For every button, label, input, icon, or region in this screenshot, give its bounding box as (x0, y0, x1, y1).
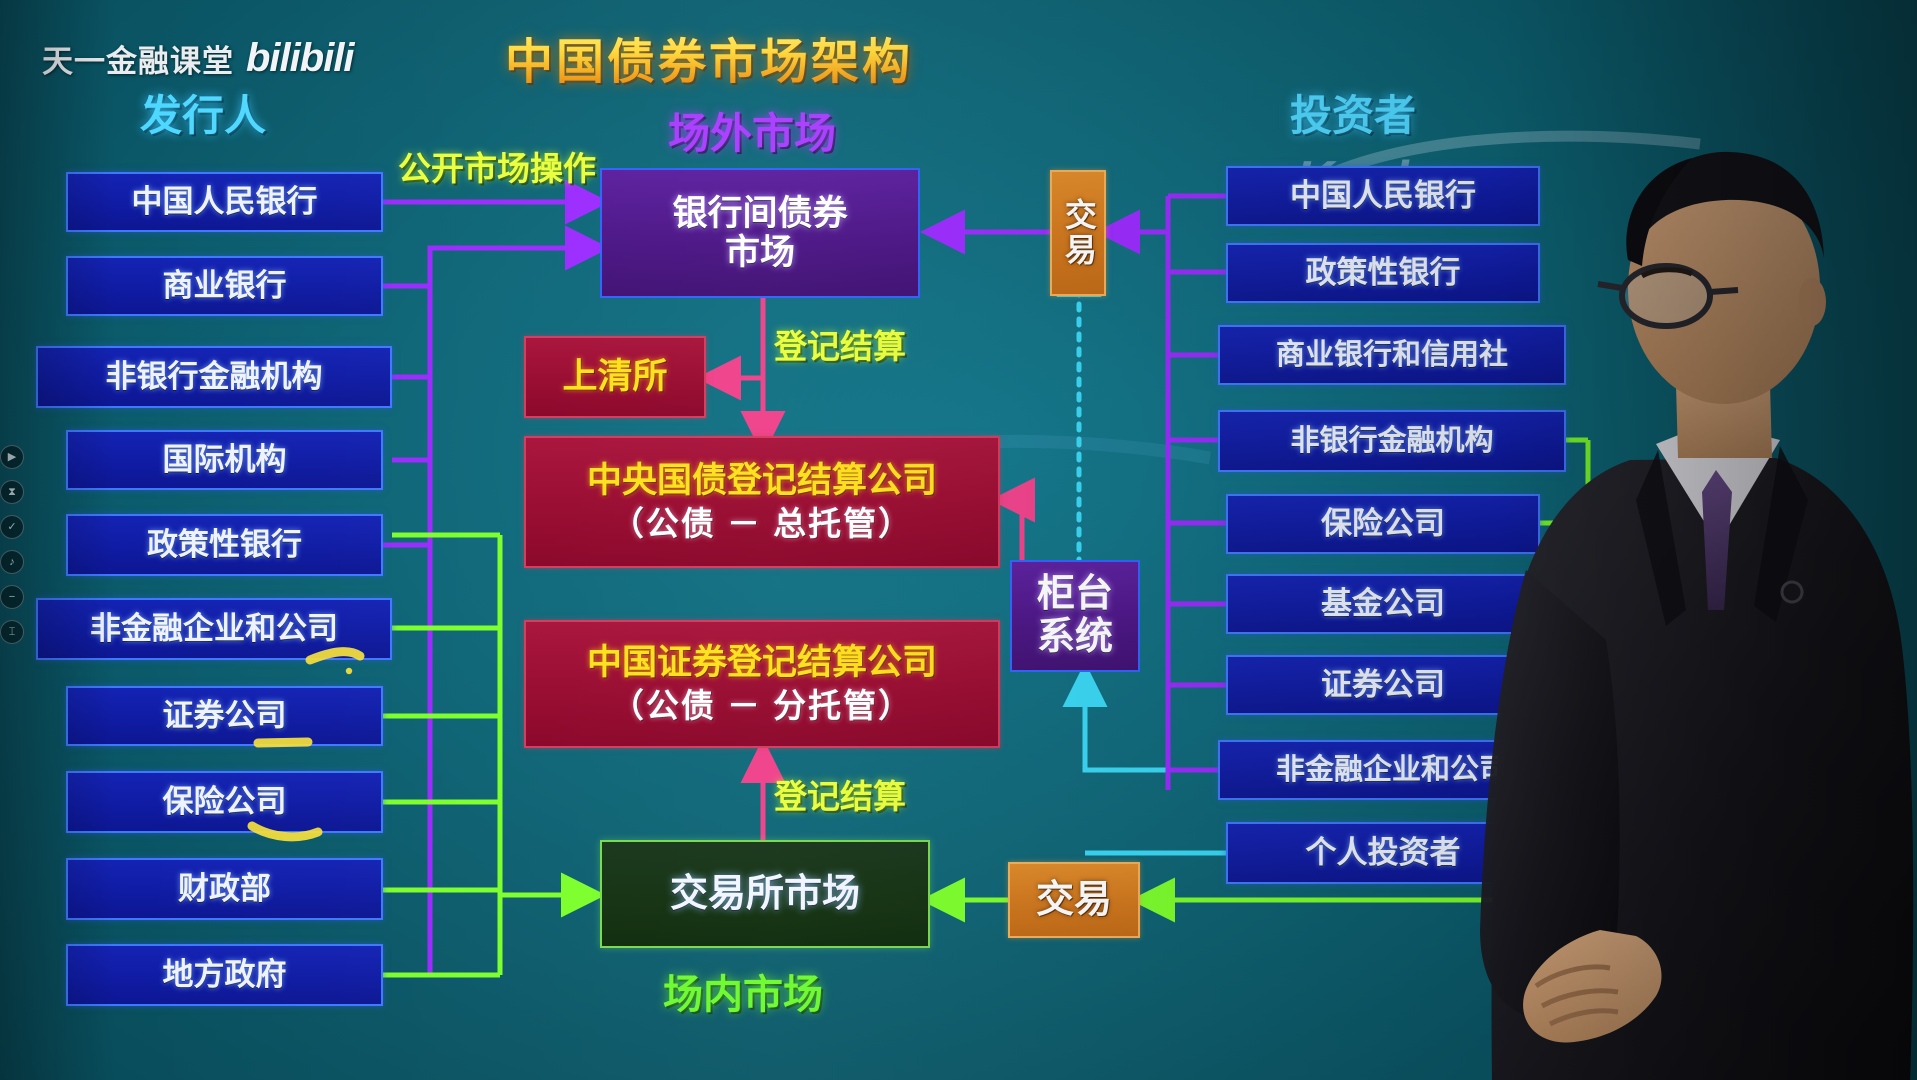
counter-system-label: 柜台 系统 (1037, 573, 1113, 658)
investor-box-6[interactable]: 证券公司 (1226, 655, 1540, 715)
issuer-label-2: 非银行金融机构 (106, 360, 323, 395)
issuer-label-3: 国际机构 (163, 443, 287, 478)
investor-label-8: 个人投资者 (1306, 836, 1461, 871)
clearing-shanghai[interactable]: 上清所 (524, 336, 706, 418)
clearing-ccdc-sub: （公债 － 总托管） (611, 506, 913, 543)
investor-label-1: 政策性银行 (1306, 256, 1461, 291)
note-icon[interactable]: ♪ (0, 550, 24, 574)
minus-icon[interactable]: − (0, 585, 24, 609)
counter-system[interactable]: 柜台 系统 (1010, 560, 1140, 672)
ink-dot-nonfin (346, 668, 352, 674)
issuer-label-9: 地方政府 (163, 958, 287, 993)
heading-issuers: 发行人 (140, 82, 266, 143)
bilibili-logo: bilibili (246, 36, 354, 81)
issuer-box-1[interactable]: 商业银行 (66, 256, 383, 316)
investor-box-0[interactable]: 中国人民银行 (1226, 166, 1540, 226)
channel-name: 天一金融课堂 (42, 36, 234, 81)
investor-label-0: 中国人民银行 (1290, 179, 1476, 214)
investor-label-5: 基金公司 (1321, 587, 1445, 622)
check-icon[interactable]: ✓ (0, 515, 24, 539)
channel-brand: 天一金融课堂 bilibili (42, 36, 354, 81)
issuer-label-8: 财政部 (178, 872, 271, 907)
issuer-label-6: 证券公司 (163, 699, 287, 734)
clearing-ccdc-label: 中央国债登记结算公司 (587, 461, 937, 500)
investor-box-8[interactable]: 个人投资者 (1226, 822, 1540, 884)
clearing-ccdc[interactable]: 中央国债登记结算公司 （公债 － 总托管） (524, 436, 1000, 568)
market-interbank[interactable]: 银行间债券 市场 (600, 168, 920, 298)
bracket-icon[interactable]: ⌶ (0, 620, 24, 644)
trade-badge-bottom-label: 交易 (1036, 879, 1112, 922)
investor-box-2[interactable]: 商业银行和信用社 (1218, 325, 1566, 385)
market-exchange-label: 交易所市场 (670, 873, 860, 916)
clearing-csdc-label: 中国证券登记结算公司 (587, 643, 937, 682)
diagram-title: 中国债券市场架构 (505, 22, 913, 92)
clearing-shanghai-label: 上清所 (562, 357, 667, 396)
issuer-box-5[interactable]: 非金融企业和公司 (36, 598, 392, 660)
investor-box-3[interactable]: 非银行金融机构 (1218, 410, 1566, 472)
trade-badge-top-label: 交易 (1060, 198, 1096, 268)
hourglass-icon[interactable]: ⧗ (0, 480, 24, 504)
label-registration-settlement-top: 登记结算 (774, 320, 906, 368)
issuer-box-0[interactable]: 中国人民银行 (66, 172, 383, 232)
presenter-hand (1523, 930, 1661, 1043)
issuer-label-5: 非金融企业和公司 (90, 612, 338, 647)
label-otc-market: 场外市场 (668, 100, 836, 161)
play-icon[interactable]: ▶ (0, 445, 24, 469)
issuer-label-0: 中国人民银行 (132, 185, 318, 220)
label-exchange-market: 场内市场 (663, 962, 823, 1020)
label-registration-settlement-bottom: 登记结算 (774, 770, 906, 818)
issuer-label-4: 政策性银行 (147, 528, 302, 563)
issuer-box-6[interactable]: 证券公司 (66, 686, 383, 746)
video-frame: 天一新媒 TIANYI CULTURE Kaola 考拉网 Kaola 考拉网 … (0, 0, 1917, 1080)
investor-box-4[interactable]: 保险公司 (1226, 494, 1540, 554)
issuer-box-4[interactable]: 政策性银行 (66, 514, 383, 576)
investor-label-7: 非金融企业和公司 (1276, 754, 1508, 786)
trade-badge-top[interactable]: 交易 (1050, 170, 1106, 296)
investor-label-4: 保险公司 (1321, 507, 1445, 542)
investor-box-5[interactable]: 基金公司 (1226, 574, 1540, 634)
presenter-figure (1480, 140, 1917, 1080)
issuer-box-3[interactable]: 国际机构 (66, 430, 383, 490)
investor-label-6: 证券公司 (1321, 668, 1445, 703)
clearing-csdc[interactable]: 中国证券登记结算公司 （公债 － 分托管） (524, 620, 1000, 748)
heading-investors: 投资者 (1290, 82, 1416, 143)
trade-badge-bottom[interactable]: 交易 (1008, 862, 1140, 938)
investor-label-3: 非银行金融机构 (1290, 425, 1493, 457)
player-control-rail[interactable]: ▶ ⧗ ✓ ♪ − ⌶ (0, 445, 24, 644)
investor-label-2: 商业银行和信用社 (1276, 339, 1508, 371)
investor-box-1[interactable]: 政策性银行 (1226, 243, 1540, 303)
market-interbank-label: 银行间债券 市场 (672, 194, 847, 272)
clearing-csdc-sub: （公债 － 分托管） (611, 688, 913, 725)
investor-box-7[interactable]: 非金融企业和公司 (1218, 740, 1566, 800)
issuer-label-1: 商业银行 (163, 269, 287, 304)
market-exchange[interactable]: 交易所市场 (600, 840, 930, 948)
issuer-label-7: 保险公司 (163, 785, 287, 820)
issuer-box-9[interactable]: 地方政府 (66, 944, 383, 1006)
issuer-box-2[interactable]: 非银行金融机构 (36, 346, 392, 408)
issuer-box-7[interactable]: 保险公司 (66, 771, 383, 833)
label-open-market-operation: 公开市场操作 (398, 142, 596, 190)
issuer-box-8[interactable]: 财政部 (66, 858, 383, 920)
